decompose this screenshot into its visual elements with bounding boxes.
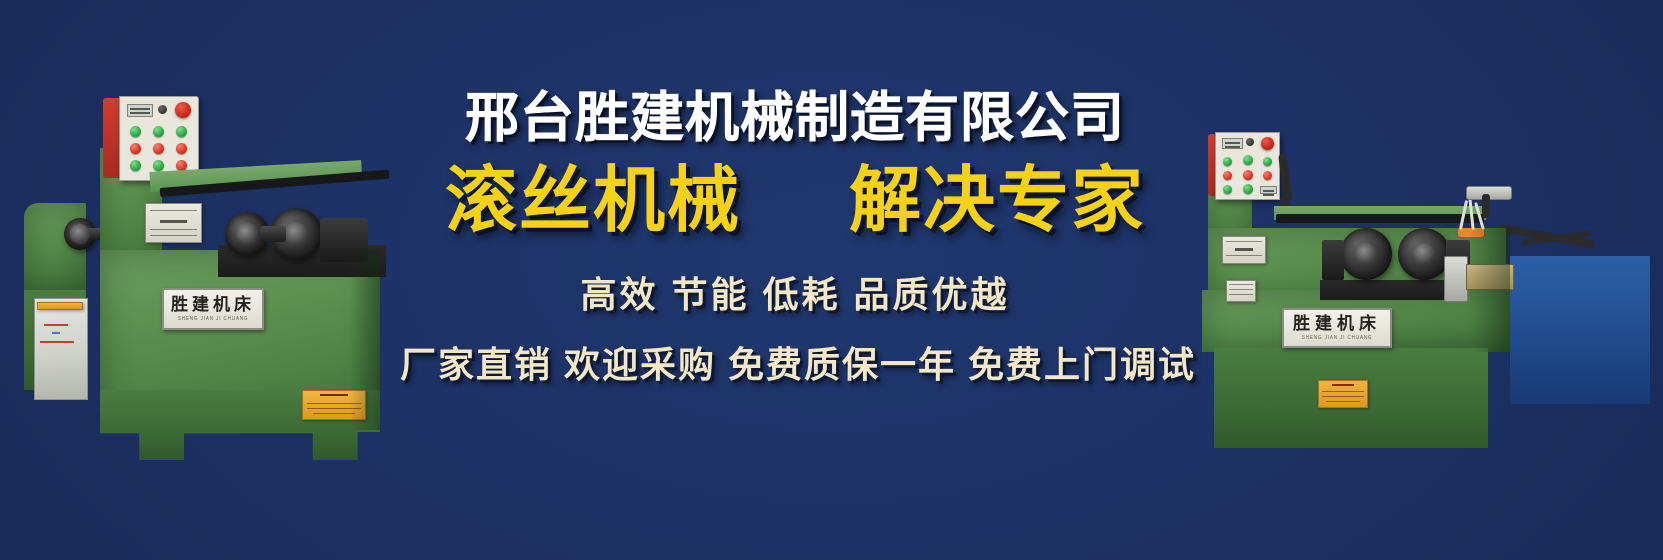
machine-right-button-7[interactable] — [1223, 185, 1232, 194]
machine-right-blue-coolant-unit — [1510, 256, 1650, 404]
machine-right-hydraulic-box — [1444, 256, 1468, 302]
machine-left-cabinet-red-text — [38, 322, 78, 348]
machine-left-cabinet-strip — [37, 302, 83, 310]
promotional-banner: 胜建机床 SHENG JIAN JI CHUANG — [0, 0, 1663, 560]
machine-left-spec-plate — [145, 203, 202, 243]
machine-left-side-roller-core — [70, 224, 90, 244]
machine-left-button-8[interactable] — [153, 160, 164, 171]
machine-right-head-slide-left — [1322, 240, 1344, 280]
headline-right: 解决专家 — [849, 163, 1145, 241]
machine-left-nameplate-cn: 胜建机床 — [171, 296, 255, 313]
machine-right-roller-bed — [1320, 280, 1460, 300]
machine-right-spec-plate — [1222, 236, 1266, 264]
machine-right-drive-belt — [1276, 214, 1484, 223]
machine-right-edge-shading — [1470, 228, 1510, 352]
machine-left-nameplate-pinyin: SHENG JIAN JI CHUANG — [178, 317, 249, 322]
machine-left-button-6[interactable] — [176, 143, 187, 154]
banner-text-block: 邢台胜建机械制造有限公司 滚丝机械 解决专家 高效 节能 低耗 品质优越 厂家直… — [400, 90, 1190, 388]
machine-right-panel-selector-knob[interactable] — [1246, 138, 1254, 146]
thread-rolling-machine-left: 胜建机床 SHENG JIAN JI CHUANG — [20, 90, 420, 480]
machine-right-button-8[interactable] — [1243, 184, 1253, 194]
machine-left-roller-shaft — [260, 226, 286, 242]
machine-right-emergency-stop-button[interactable] — [1261, 137, 1274, 150]
subtitle-line-2: 厂家直销 欢迎采购 免费质保一年 免费上门调试 — [400, 336, 1190, 388]
machine-right-button-1[interactable] — [1223, 157, 1232, 166]
machine-right-nameplate: 胜建机床 SHENG JIAN JI CHUANG — [1282, 308, 1392, 348]
machine-right-tailstock-arm — [1482, 194, 1490, 218]
machine-right-nameplate-pinyin: SHENG JIAN JI CHUANG — [1302, 336, 1373, 341]
machine-right-panel-slider[interactable] — [1260, 186, 1277, 194]
machine-left-button-1[interactable] — [130, 126, 141, 137]
machine-right-roller-head-2-core — [1413, 243, 1435, 265]
machine-right-button-3[interactable] — [1263, 157, 1272, 166]
machine-left-button-7[interactable] — [130, 160, 141, 171]
machine-right-button-6[interactable] — [1263, 171, 1272, 180]
machine-left-button-2[interactable] — [153, 126, 164, 137]
machine-left-button-3[interactable] — [176, 126, 187, 137]
headline-left: 滚丝机械 — [445, 163, 741, 241]
machine-left-panel-red-side — [103, 98, 120, 178]
machine-left-electrical-cabinet — [34, 298, 88, 400]
thread-rolling-machine-right: 胜建机床 SHENG JIAN JI CHUANG — [1170, 128, 1650, 448]
subtitle-line-1: 高效 节能 低耗 品质优越 — [400, 266, 1190, 318]
machine-right-button-4[interactable] — [1223, 171, 1232, 180]
machine-right-parameter-plate — [1226, 280, 1256, 302]
machine-right-button-5[interactable] — [1243, 170, 1253, 180]
machine-right-roller-head-1-core — [1355, 243, 1377, 265]
machine-right-warning-label — [1318, 380, 1368, 408]
machine-left-button-5[interactable] — [153, 143, 164, 154]
machine-left-roller-head-1-core — [236, 223, 258, 245]
machine-left-button-4[interactable] — [130, 143, 141, 154]
headline: 滚丝机械 解决专家 — [400, 163, 1190, 241]
machine-left-roller-head-2-core — [284, 222, 308, 246]
machine-right-nameplate-cn: 胜建机床 — [1293, 315, 1381, 332]
machine-right-button-2[interactable] — [1243, 155, 1253, 165]
machine-left-emergency-stop-button[interactable] — [175, 102, 191, 118]
machine-left-edge-shading — [350, 250, 380, 430]
machine-right-control-panel — [1215, 132, 1280, 200]
machine-left-nameplate: 胜建机床 SHENG JIAN JI CHUANG — [162, 288, 264, 330]
machine-left-panel-selector-knob[interactable] — [158, 105, 167, 114]
machine-left-panel-display — [127, 104, 153, 117]
machine-right-panel-display — [1222, 138, 1243, 149]
machine-right-panel-conduit — [1278, 153, 1293, 202]
machine-left-control-panel — [119, 96, 199, 181]
company-name: 邢台胜建机械制造有限公司 — [400, 90, 1190, 147]
